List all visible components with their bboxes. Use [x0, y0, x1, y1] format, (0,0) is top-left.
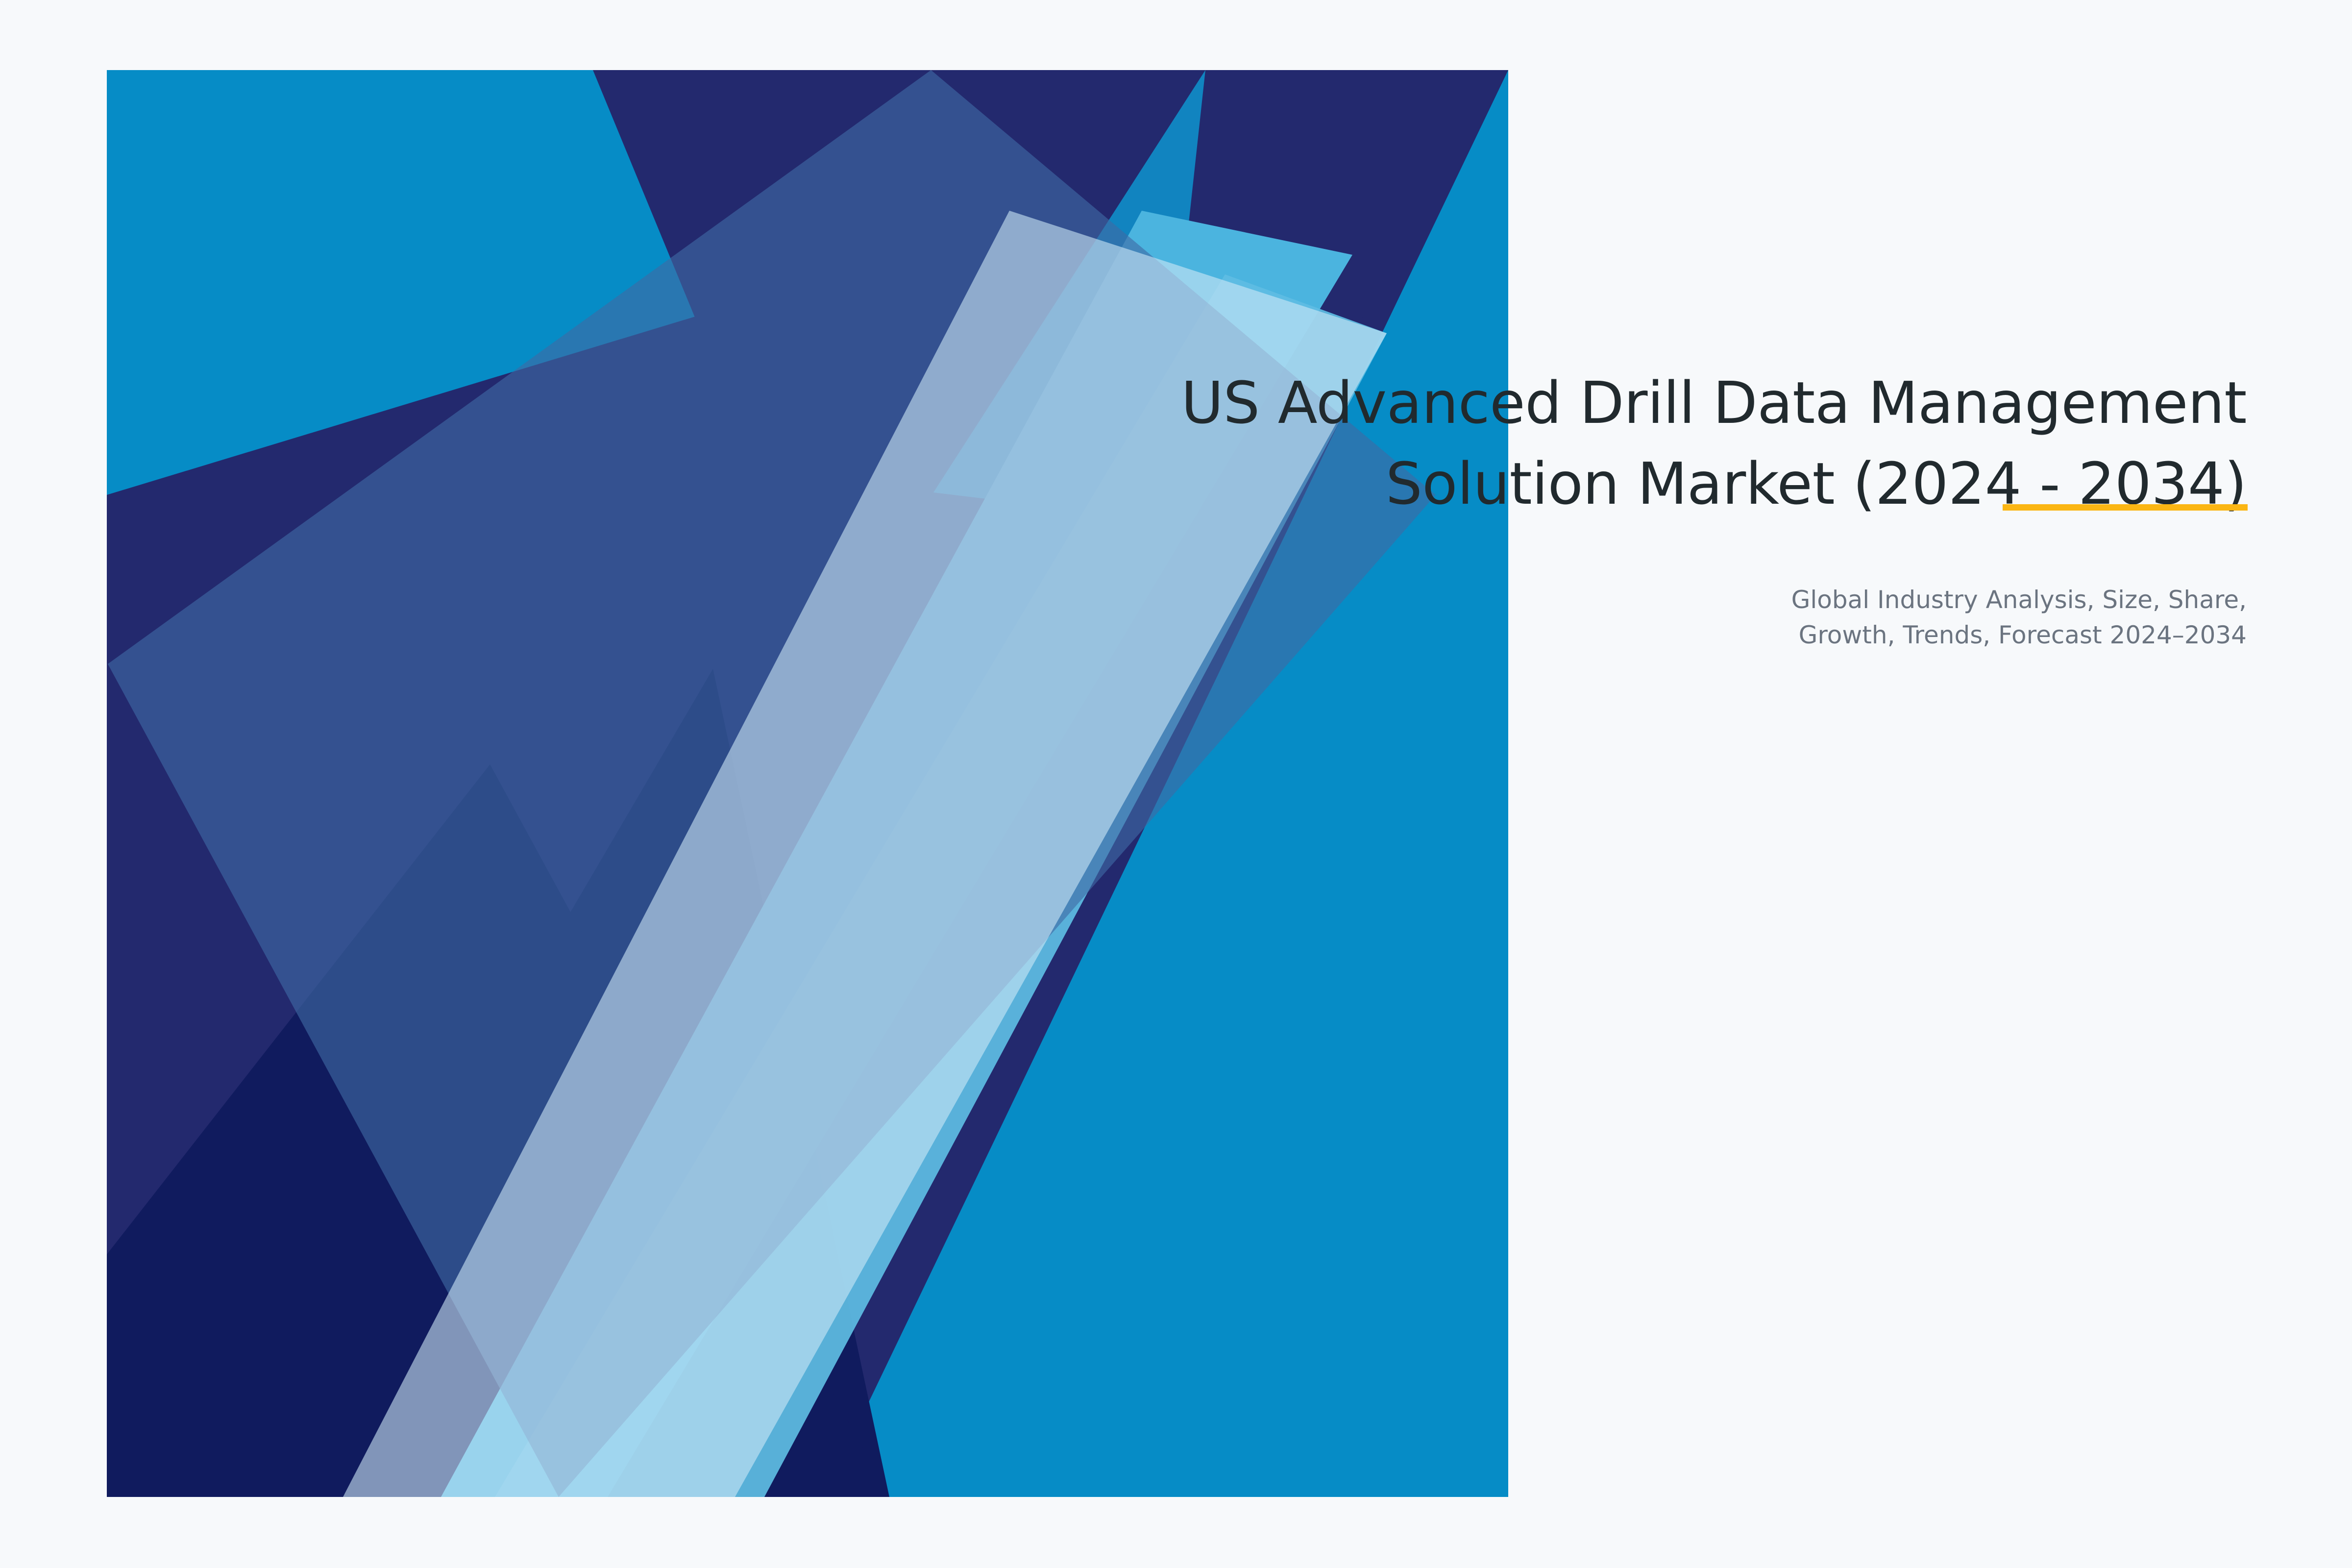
cover-text-block: US Advanced Drill Data Management Soluti… [801, 363, 2247, 653]
report-cover: US Advanced Drill Data Management Soluti… [0, 0, 2352, 1568]
page-subtitle: Global Industry Analysis, Size, Share, G… [801, 524, 2247, 653]
abstract-geometric-artwork [0, 0, 2352, 1568]
title-wrap: US Advanced Drill Data Management Soluti… [801, 363, 2247, 524]
title-accent-underline [2003, 504, 2248, 511]
page-title: US Advanced Drill Data Management Soluti… [801, 363, 2247, 524]
